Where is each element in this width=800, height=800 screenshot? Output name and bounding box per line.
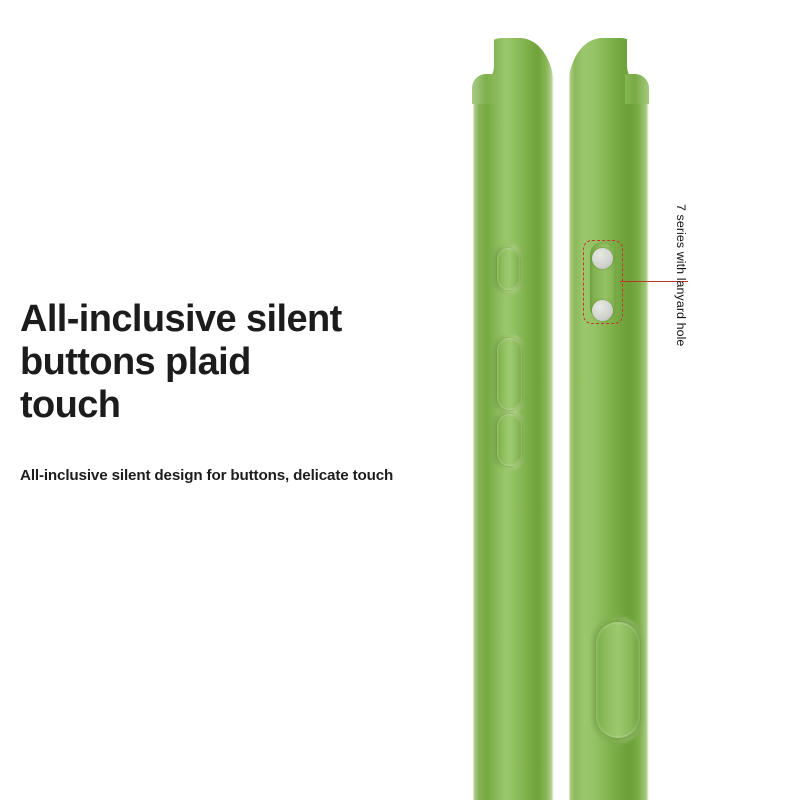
callout-label-text: 7 series with lanyard hole xyxy=(674,204,688,346)
marketing-copy-block: All-inclusive silent buttons plaid touch… xyxy=(20,298,460,484)
product-image xyxy=(455,0,705,800)
product-marketing-banner: All-inclusive silent buttons plaid touch… xyxy=(0,0,800,800)
case-top-notch-fill-right xyxy=(625,74,649,104)
page-title: All-inclusive silent buttons plaid touch xyxy=(20,298,460,427)
volume-up-button xyxy=(497,338,522,410)
lanyard-hole-top xyxy=(592,248,613,269)
phone-case-left-profile xyxy=(472,38,554,800)
mute-switch-button xyxy=(497,248,520,290)
phone-case-right-profile xyxy=(568,38,649,800)
subtitle-text: All-inclusive silent design for buttons,… xyxy=(20,467,460,484)
power-button xyxy=(596,622,640,738)
case-top-notch-fill-left xyxy=(472,74,496,104)
lanyard-hole-bottom xyxy=(592,300,613,321)
volume-down-button xyxy=(497,414,522,466)
